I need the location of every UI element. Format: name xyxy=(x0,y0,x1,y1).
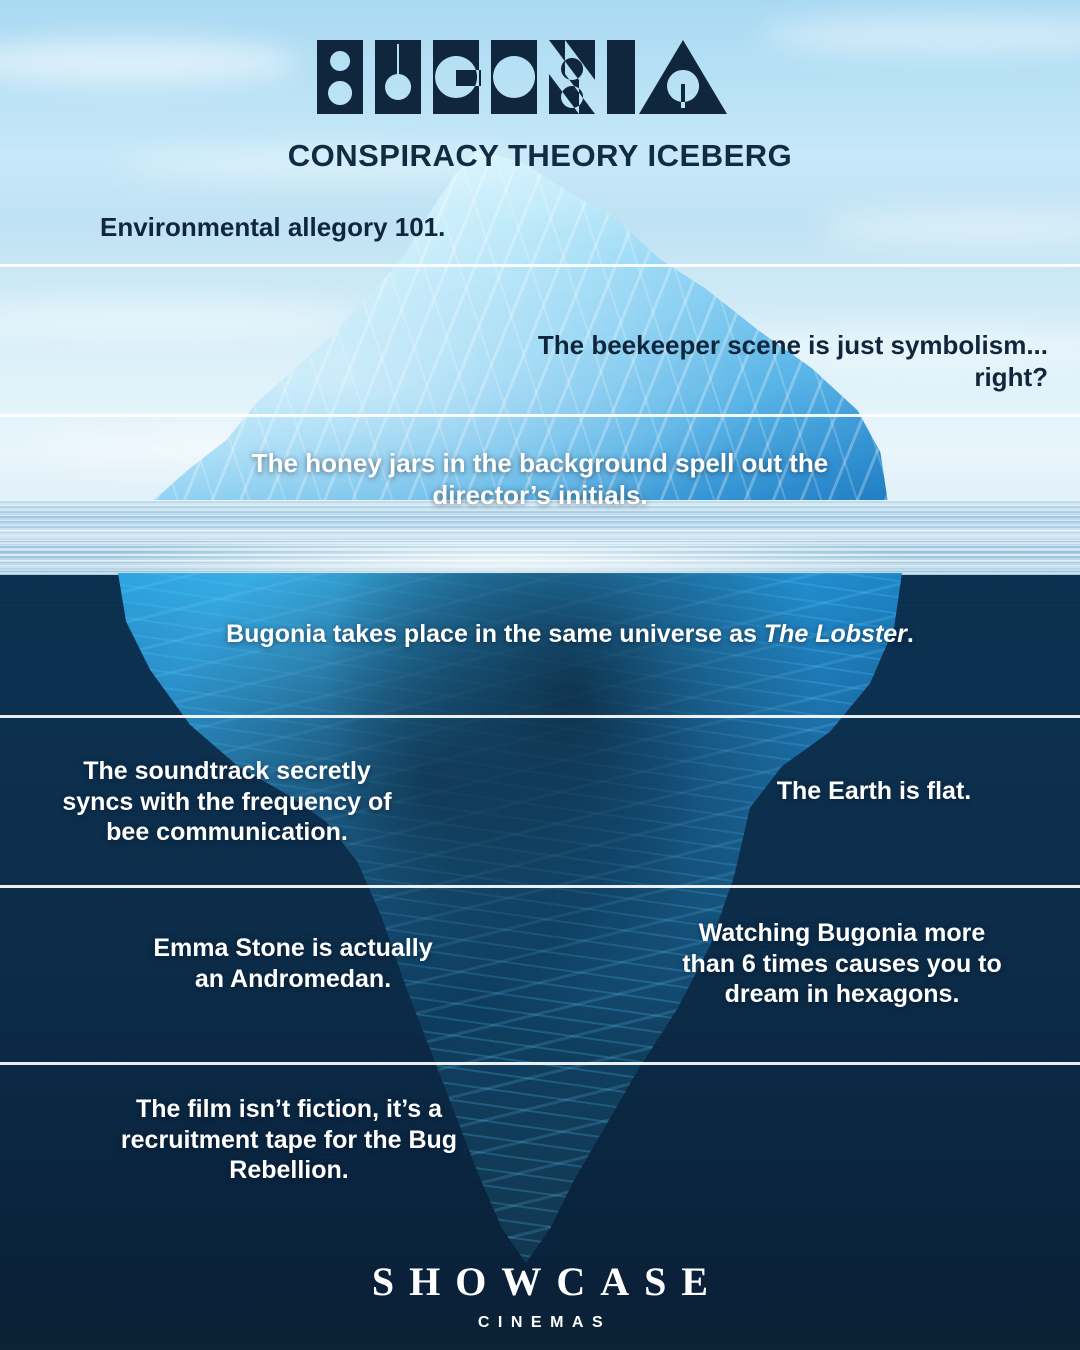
tier-divider xyxy=(0,715,1080,718)
iceberg-entry-3: The honey jars in the background spell o… xyxy=(240,448,840,511)
logo-letter-o xyxy=(491,40,537,114)
tier-divider xyxy=(0,1062,1080,1065)
page-subtitle: CONSPIRACY THEORY ICEBERG xyxy=(0,138,1080,174)
iceberg-entry-1: Environmental allegory 101. xyxy=(100,212,445,244)
iceberg-entry-4: Bugonia takes place in the same universe… xyxy=(180,619,960,650)
tier-divider xyxy=(0,264,1080,267)
logo-letter-b xyxy=(317,40,363,114)
entry-4-suffix: . xyxy=(907,620,914,648)
tier-divider xyxy=(0,885,1080,888)
entry-4-prefix: Bugonia takes place in the same universe… xyxy=(226,620,764,648)
iceberg-entry-5: The soundtrack secretly syncs with the f… xyxy=(52,756,402,848)
logo-letter-n xyxy=(549,40,595,114)
logo-letter-a xyxy=(639,40,727,114)
cloud-shape xyxy=(0,300,360,340)
iceberg-entry-6: The Earth is flat. xyxy=(744,776,1004,807)
bugonia-logo xyxy=(0,40,1080,119)
logo-letter-u xyxy=(375,40,421,114)
showcase-tagline: CINEMAS xyxy=(0,1314,1080,1332)
entry-4-film-title: The Lobster xyxy=(764,620,907,648)
iceberg-entry-2: The beekeeper scene is just symbolism...… xyxy=(470,330,1048,393)
showcase-wordmark: SHOWCASE xyxy=(0,1258,1080,1305)
iceberg-entry-8: Watching Bugonia more than 6 times cause… xyxy=(672,918,1012,1010)
iceberg-entry-9: The film isn’t fiction, it’s a recruitme… xyxy=(104,1094,474,1186)
tier-divider xyxy=(0,414,1080,417)
cloud-shape xyxy=(820,210,1080,244)
iceberg-entry-7: Emma Stone is actually an Andromedan. xyxy=(138,933,448,994)
logo-letter-g xyxy=(433,40,481,114)
showcase-cinemas-logo: SHOWCASE CINEMAS xyxy=(0,1258,1080,1332)
logo-letter-i xyxy=(607,40,635,114)
iceberg-infographic: CONSPIRACY THEORY ICEBERG Environmental … xyxy=(0,0,1080,1350)
